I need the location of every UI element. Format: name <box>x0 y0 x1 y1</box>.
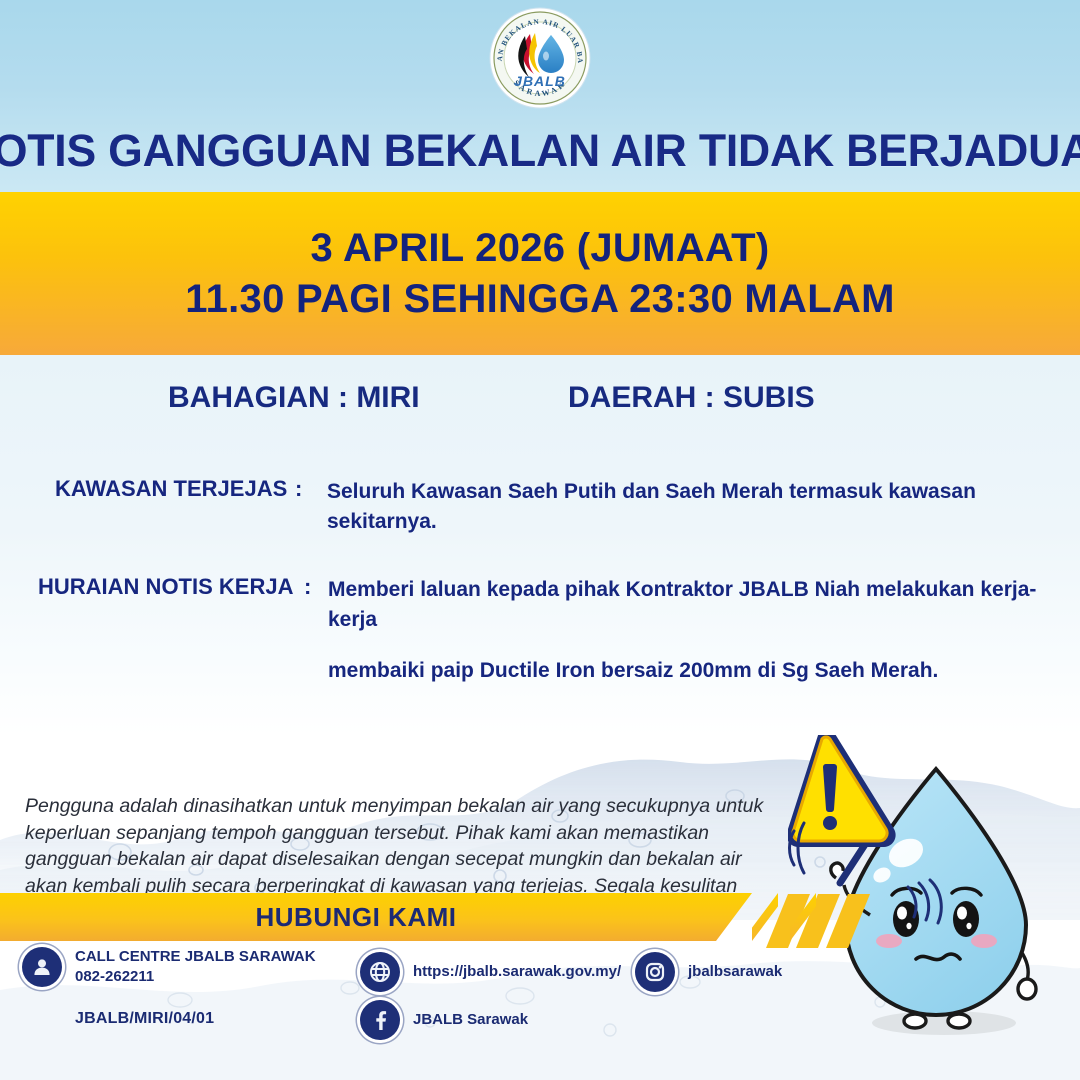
warning-triangle-icon <box>788 735 896 847</box>
work-description-line1: Memberi laluan kepada pihak Kontraktor J… <box>328 578 1036 631</box>
facebook-contact[interactable]: JBALB Sarawak <box>360 1000 528 1040</box>
facebook-handle: JBALB Sarawak <box>413 1010 528 1030</box>
contact-banner: HUBUNGI KAMI <box>0 893 752 941</box>
affected-area-value: Seluruh Kawasan Saeh Putih dan Saeh Mera… <box>327 477 1080 538</box>
yellow-accent-slashes <box>766 886 876 956</box>
instagram-contact[interactable]: jbalbsarawak <box>635 952 782 992</box>
affected-area-colon: : <box>295 476 302 502</box>
reference-number: JBALB/MIRI/04/01 <box>75 1010 214 1028</box>
website-contact[interactable]: https://jbalb.sarawak.gov.my/ <box>360 952 621 992</box>
instagram-handle: jbalbsarawak <box>688 962 782 982</box>
notice-title-band: NOTIS GANGGUAN BEKALAN AIR TIDAK BERJADU… <box>0 118 1080 184</box>
notice-time: 11.30 PAGI SEHINGGA 23:30 MALAM <box>185 277 895 322</box>
call-centre-text: CALL CENTRE JBALB SARAWAK 082-262211 <box>75 947 316 987</box>
contact-banner-label: HUBUNGI KAMI <box>256 902 457 933</box>
instagram-icon <box>635 952 675 992</box>
globe-icon <box>360 952 400 992</box>
work-description-label: HURAIAN NOTIS KERJA <box>38 574 293 600</box>
jbalb-logo: JABATAN BEKALAN AIR LUAR BANDAR SARAWAK … <box>488 6 592 110</box>
work-description-row: HURAIAN NOTIS KERJA : Memberi laluan kep… <box>38 574 293 600</box>
person-icon <box>22 947 62 987</box>
date-banner: 3 APRIL 2026 (JUMAAT) 11.30 PAGI SEHINGG… <box>0 192 1080 355</box>
page-title: NOTIS GANGGUAN BEKALAN AIR TIDAK BERJADU… <box>0 125 1080 177</box>
website-url: https://jbalb.sarawak.gov.my/ <box>413 962 621 982</box>
svg-text:JBALB: JBALB <box>514 73 566 89</box>
call-centre-number: 082-262211 <box>75 968 154 985</box>
work-description-colon: : <box>304 574 311 600</box>
notice-date: 3 APRIL 2026 (JUMAAT) <box>311 226 770 271</box>
daerah-label: DAERAH : SUBIS <box>568 381 815 415</box>
work-description-value: Memberi laluan kepada pihak Kontraktor J… <box>328 575 1068 686</box>
affected-area-label: KAWASAN TERJEJAS <box>55 476 287 502</box>
work-description-line2: membaiki paip Ductile Iron bersaiz 200mm… <box>328 656 1068 686</box>
call-centre-contact[interactable]: CALL CENTRE JBALB SARAWAK 082-262211 <box>22 947 316 987</box>
facebook-icon <box>360 1000 400 1040</box>
bahagian-label: BAHAGIAN : MIRI <box>168 381 420 415</box>
call-centre-label: CALL CENTRE JBALB SARAWAK <box>75 948 316 965</box>
affected-area-row: KAWASAN TERJEJAS : Seluruh Kawasan Saeh … <box>55 476 287 502</box>
notice-poster: JABATAN BEKALAN AIR LUAR BANDAR SARAWAK … <box>0 0 1080 1080</box>
